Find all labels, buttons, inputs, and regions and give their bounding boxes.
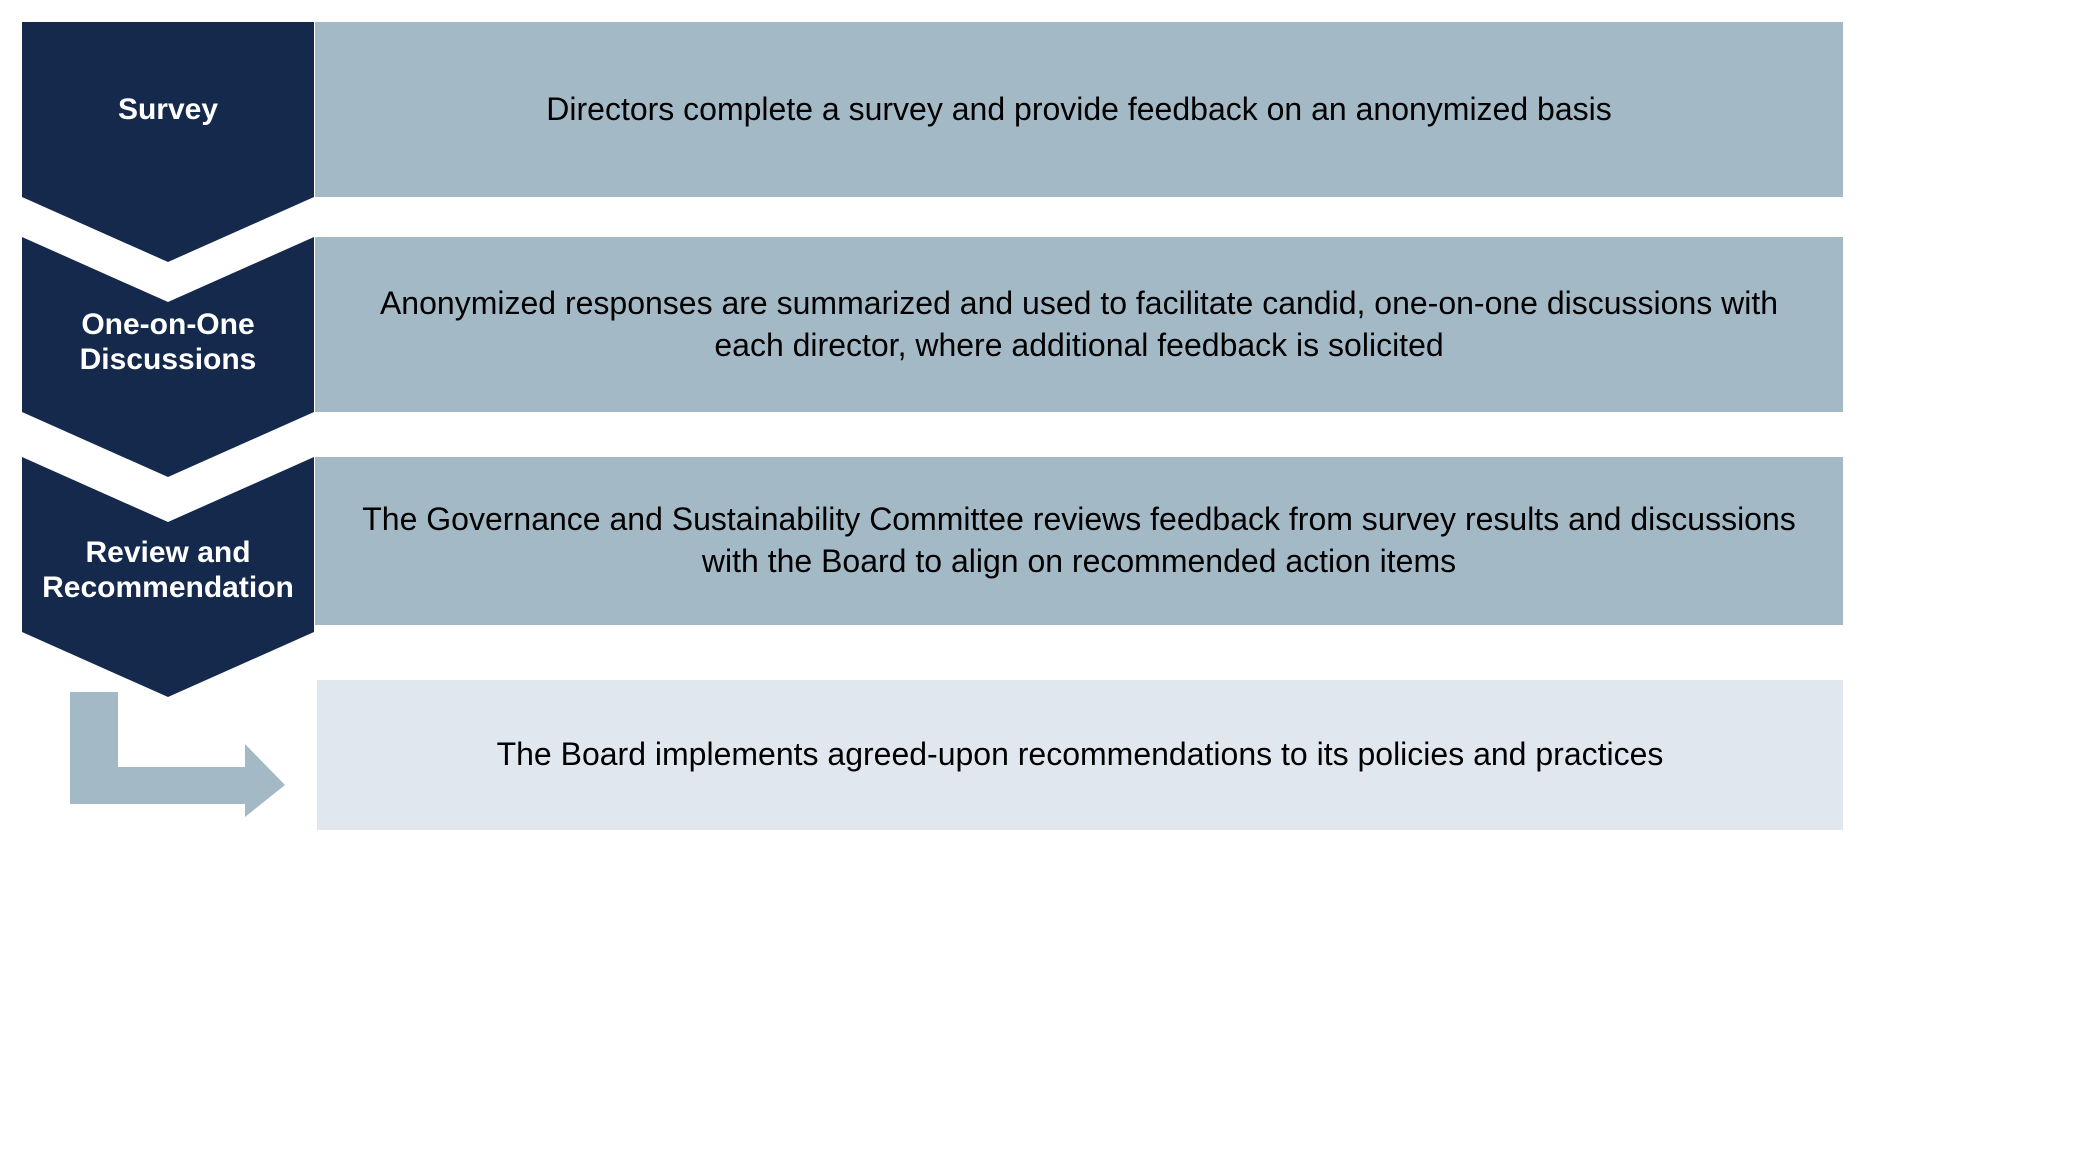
board-evaluation-process-diagram: Survey Directors complete a survey and p… [0, 0, 2088, 1172]
stage-1-description-panel[interactable]: Directors complete a survey and provide … [315, 22, 1843, 197]
stage-1-description: Directors complete a survey and provide … [353, 89, 1805, 131]
stage-2-description-panel[interactable]: Anonymized responses are summarized and … [315, 237, 1843, 412]
stage-3-label: Review and Recommendation [18, 535, 318, 606]
stage-3-label-container[interactable]: Review and Recommendation [18, 500, 318, 640]
stage-2-label: One-on-One Discussions [22, 307, 314, 378]
stage-3-description: The Governance and Sustainability Commit… [353, 499, 1805, 582]
stage-1-label-container[interactable]: Survey [22, 22, 314, 197]
outcome-description-panel[interactable]: The Board implements agreed-upon recomme… [317, 680, 1843, 830]
outcome-description: The Board implements agreed-upon recomme… [355, 734, 1805, 776]
stage-1-label: Survey [22, 92, 314, 127]
stage-2-label-container[interactable]: One-on-One Discussions [22, 272, 314, 412]
stage-3-description-panel[interactable]: The Governance and Sustainability Commit… [315, 457, 1843, 625]
stage-2-description: Anonymized responses are summarized and … [353, 283, 1805, 366]
elbow-arrow-icon [70, 692, 285, 817]
